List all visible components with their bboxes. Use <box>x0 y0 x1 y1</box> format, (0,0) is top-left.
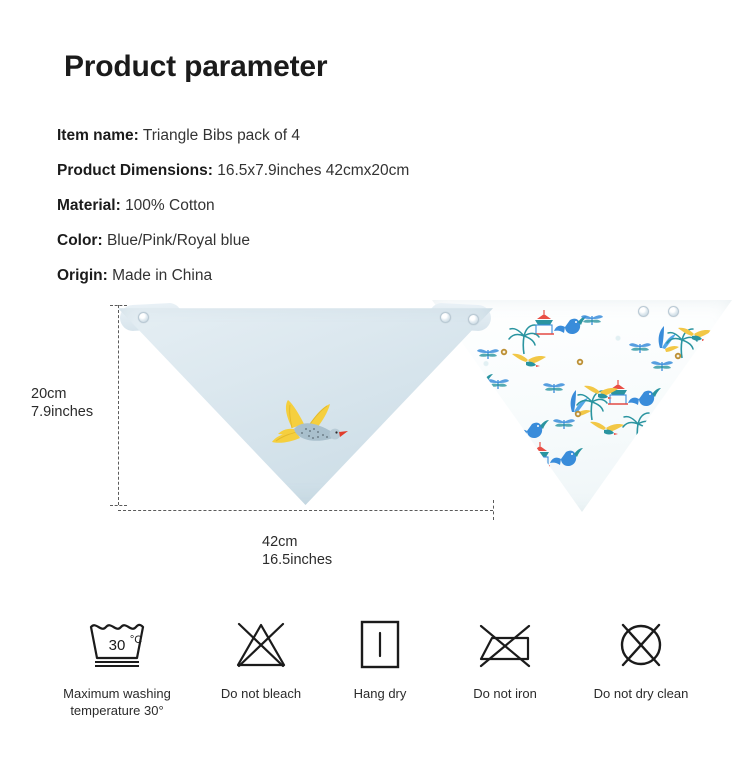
snap-button <box>668 306 679 317</box>
snap-button <box>468 314 479 325</box>
spec-label: Origin: <box>57 267 108 284</box>
care-caption: Do not dry clean <box>556 685 726 702</box>
spec-value: Blue/Pink/Royal blue <box>107 232 250 249</box>
svg-text:30: 30 <box>109 637 126 654</box>
spec-value: Made in China <box>112 267 212 284</box>
height-dimension-tick-bottom <box>110 505 127 506</box>
spec-row-color: Color: Blue/Pink/Royal blue <box>57 223 557 258</box>
spec-row-material: Material: 100% Cotton <box>57 188 557 223</box>
height-dimension-label: 20cm 7.9inches <box>31 385 93 421</box>
product-spec-list: Item name: Triangle Bibs pack of 4 Produ… <box>57 118 557 293</box>
snap-button <box>138 312 149 323</box>
spec-label: Color: <box>57 232 103 249</box>
care-item-dry-clean: Do not dry clean <box>556 616 726 702</box>
height-value-cm: 20cm <box>31 385 93 403</box>
spec-label: Material: <box>57 197 121 214</box>
spec-row-item-name: Item name: Triangle Bibs pack of 4 <box>57 118 557 153</box>
bird-embroidery-icon <box>266 398 352 460</box>
wash-tub-30-icon: 30 °C <box>42 616 192 674</box>
width-dimension-line <box>118 510 493 511</box>
spec-value: 100% Cotton <box>125 197 215 214</box>
width-value-inches: 16.5inches <box>262 551 332 569</box>
height-dimension-line <box>118 305 119 505</box>
spec-row-product-dimensions: Product Dimensions: 16.5x7.9inches 42cmx… <box>57 153 557 188</box>
height-value-inches: 7.9inches <box>31 403 93 421</box>
page-title: Product parameter <box>64 50 327 84</box>
spec-label: Product Dimensions: <box>57 162 213 179</box>
do-not-dry-clean-icon <box>556 616 726 674</box>
width-dimension-tick-right <box>493 500 494 520</box>
width-dimension-label: 42cm 16.5inches <box>262 533 332 569</box>
spec-value: 16.5x7.9inches 42cmx20cm <box>217 162 409 179</box>
svg-text:°C: °C <box>130 634 142 646</box>
snap-button <box>440 312 451 323</box>
height-dimension-tick-top <box>110 305 127 306</box>
product-image-blue-bib <box>118 300 493 505</box>
spec-label: Item name: <box>57 127 139 144</box>
width-value-cm: 42cm <box>262 533 332 551</box>
spec-value: Triangle Bibs pack of 4 <box>143 127 300 144</box>
snap-button <box>638 306 649 317</box>
care-instructions-row: 30 °C Maximum washing temperature 30° Do… <box>0 616 750 736</box>
spec-row-origin: Origin: Made in China <box>57 258 557 293</box>
care-item-washing: 30 °C Maximum washing temperature 30° <box>42 616 192 719</box>
care-caption: Maximum washing temperature 30° <box>42 685 192 719</box>
